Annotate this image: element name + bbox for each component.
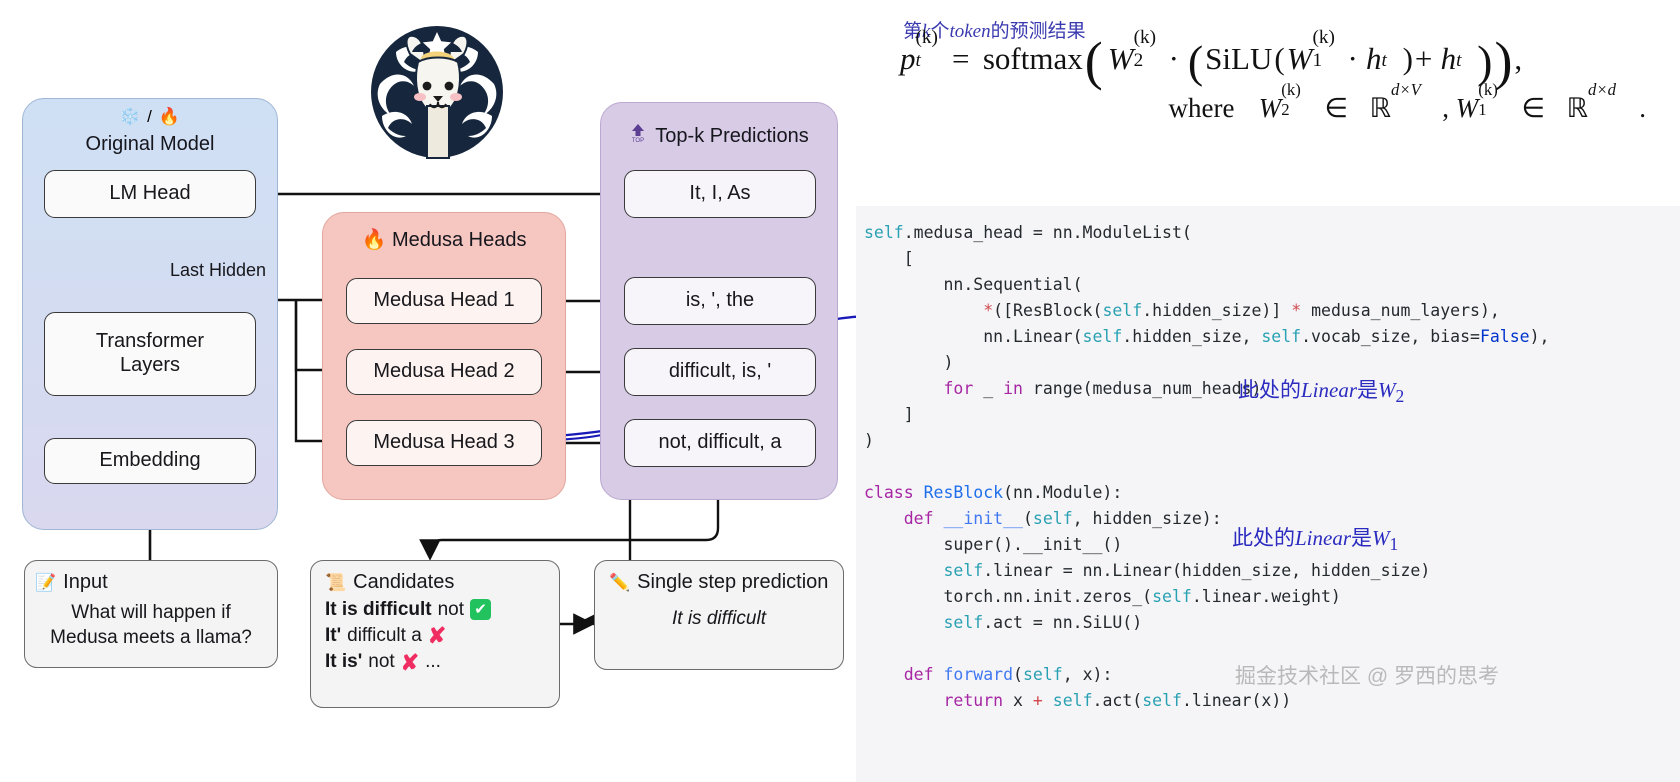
prediction-2-label: difficult, is, ' [669,360,771,384]
candidate-1-bold: It' [325,625,341,647]
candidate-row-0[interactable]: It is difficult not ✔ [325,599,545,621]
candidates-box[interactable]: 📜 Candidates It is difficult not ✔ It' d… [310,560,560,708]
transformer-layers-label: Transformer Layers [96,330,204,377]
annot-w1-pre: 此处的 [1232,526,1295,550]
equals-symbol: = [952,41,969,77]
annotation-linear-is-w2: 此处的Linear是W2 [1238,374,1404,407]
candidate-2-rest: not [368,651,394,673]
prediction-3-label: not, difficult, a [658,431,781,455]
medusa-head-2-node[interactable]: Medusa Head 2 [346,349,542,395]
candidates-header: 📜 Candidates [325,571,545,595]
pencil-icon: ✏️ [609,573,630,593]
silu-label: SiLU [1205,41,1272,77]
single-step-prediction-box[interactable]: ✏️ Single step prediction It is difficul… [594,560,844,670]
input-text-line-2: Medusa meets a llama? [35,626,267,650]
diagram-canvas: ❄️ / 🔥 Original Model LM Head Transforme… [0,0,1680,768]
formula-line-2: where W(k)2 ∈ ℝd×V , W(k)1 ∈ ℝd×d . [900,93,1660,124]
p-symbol: p [900,41,916,76]
where-label: where [1168,93,1234,123]
medusa-heads-title: 🔥 Medusa Heads [323,227,565,252]
cross-icon: ✘ [401,652,419,674]
annot-w2-sub: 2 [1396,386,1405,406]
svg-text:TOP: TOP [632,138,644,143]
lm-head-label: LM Head [109,182,190,206]
starbucks-llama-logo [370,12,504,172]
medusa-head-2-label: Medusa Head 2 [373,360,514,384]
formula-note-post: 的预测结果 [991,21,1086,42]
prediction-row-0[interactable]: It, I, As [624,170,816,218]
annotation-linear-is-w1: 此处的Linear是W1 [1232,522,1398,555]
single-step-header: ✏️ Single step prediction [609,571,829,595]
candidate-row-2[interactable]: It is' not ✘ ... [325,651,545,673]
input-header: 📝 Input [35,571,267,595]
candidate-2-bold: It is' [325,651,362,673]
formula-note-token: token [949,21,990,42]
prediction-row-1[interactable]: is, ', the [624,277,816,325]
cross-icon: ✘ [428,625,446,647]
candidate-1-rest: difficult a [347,625,422,647]
annot-w1-mono: Linear [1295,526,1351,550]
code-block-medusa-head[interactable]: self.medusa_head = nn.ModuleList( [ nn.S… [856,206,1680,470]
prediction-0-label: It, I, As [689,182,750,206]
input-title: Input [63,571,107,595]
annot-w1-mid: 是 [1351,526,1372,550]
single-step-title: Single step prediction [637,571,828,595]
annot-w2-pre: 此处的 [1238,378,1301,402]
original-model-title: Original Model [23,133,277,156]
annot-w2-mono: Linear [1301,378,1357,402]
prediction-1-label: is, ', the [686,289,754,313]
prediction-row-2[interactable]: difficult, is, ' [624,348,816,396]
annot-w2-mid: 是 [1357,378,1378,402]
input-box[interactable]: 📝 Input What will happen if Medusa meets… [24,560,278,668]
annot-w2-var: W [1378,378,1396,402]
softmax-label: softmax [983,41,1083,77]
top-arrow-icon: TOP [629,123,647,149]
medusa-head-3-node[interactable]: Medusa Head 3 [346,420,542,466]
candidate-0-rest: not [438,599,464,621]
medusa-head-1-node[interactable]: Medusa Head 1 [346,278,542,324]
annot-w1-var: W [1372,526,1390,550]
input-text-line-1: What will happen if [35,601,267,625]
candidate-2-trailing: ... [425,651,441,673]
topk-title-row: TOP Top-k Predictions [601,123,837,149]
medusa-head-1-label: Medusa Head 1 [373,289,514,313]
embedding-node[interactable]: Embedding [44,438,256,484]
check-icon: ✔ [470,599,491,620]
candidate-0-bold: It is difficult [325,599,432,621]
transformer-layers-node[interactable]: Transformer Layers [44,312,256,396]
watermark: 掘金技术社区 @ 罗西的思考 [1235,660,1499,690]
prediction-row-3[interactable]: not, difficult, a [624,419,816,467]
topk-title-label: Top-k Predictions [655,125,808,148]
medusa-head-3-label: Medusa Head 3 [373,431,514,455]
scroll-icon: 📜 [325,573,346,593]
single-step-value: It is difficult [609,607,829,631]
formula-line-1: p(k)t = softmax ( W(k)2 · ( SiLU(W(k)1 ·… [900,40,1660,79]
candidate-row-1[interactable]: It' difficult a ✘ [325,625,545,647]
candidates-title: Candidates [353,571,454,595]
last-hidden-label: Last Hidden [170,260,266,281]
frozen-trainable-icons: ❄️ / 🔥 [23,107,277,127]
annot-w1-sub: 1 [1390,534,1399,554]
memo-icon: 📝 [35,573,56,593]
formula-block: p(k)t = softmax ( W(k)2 · ( SiLU(W(k)1 ·… [900,40,1660,124]
lm-head-node[interactable]: LM Head [44,170,256,218]
code-block-resblock[interactable]: class ResBlock(nn.Module): def __init__(… [856,466,1680,782]
embedding-label: Embedding [99,449,200,473]
